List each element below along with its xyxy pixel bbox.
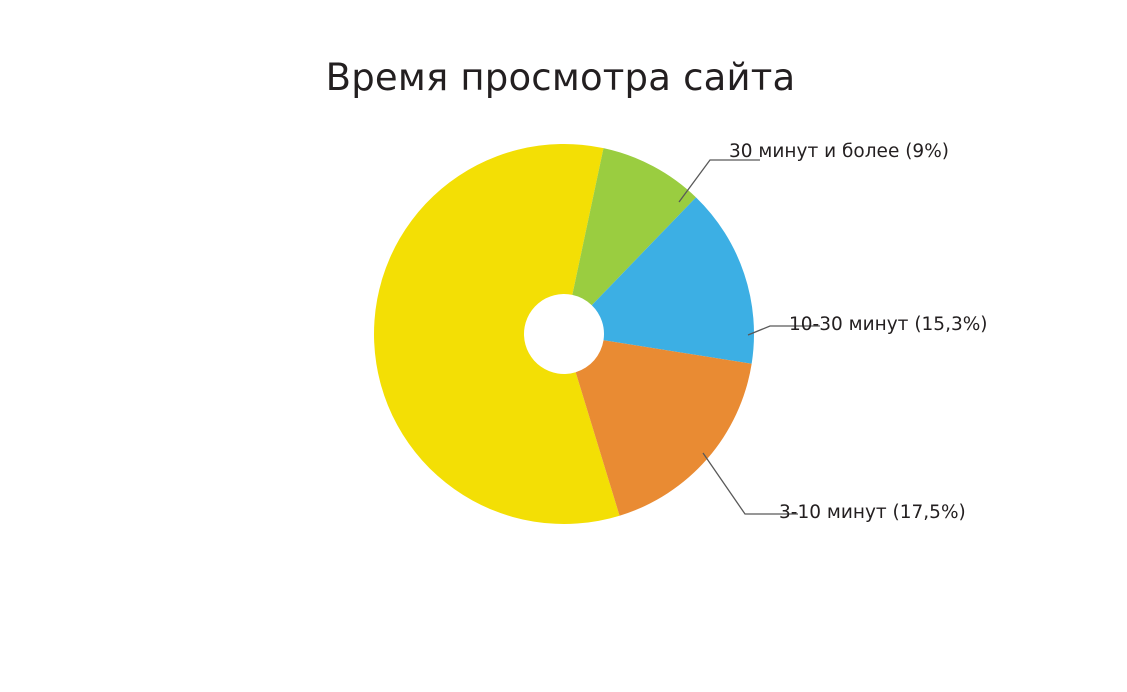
pie-slices-group [374,144,754,524]
chart-canvas: Время просмотра сайта 30 минут и более (… [0,0,1127,692]
slice-label-10-30-minut: 10-30 минут (15,3%) [789,316,988,335]
slice-label-30-minut-i-bolee: 30 минут и более (9%) [729,143,949,162]
pie-slice-0[interactable] [374,144,620,524]
slice-label-3-10-minut: 3-10 минут (17,5%) [779,504,966,523]
donut-pie-chart [0,0,1127,692]
